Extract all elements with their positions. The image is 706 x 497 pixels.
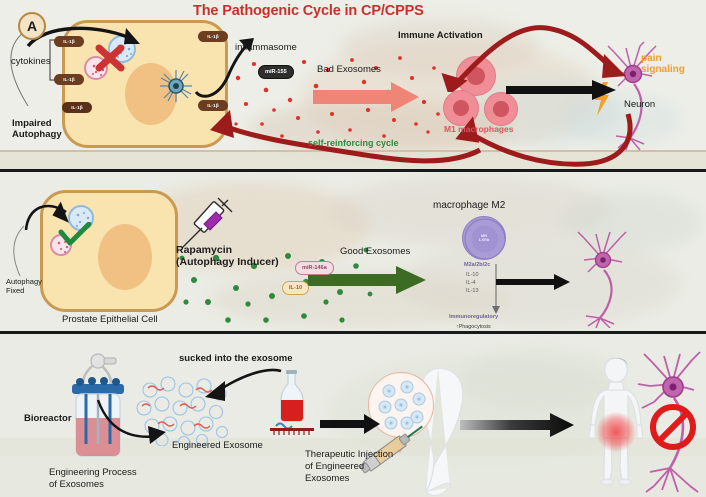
mirna-badge-mir155: miR-155: [258, 65, 294, 79]
label-immunoregulatory: Immunoregulatory: [449, 314, 498, 320]
label-therapeutic-injection-2: of Engineered: [305, 461, 364, 472]
label-macrophage-m2: macrophage M2: [433, 200, 505, 211]
label-therapeutic-injection-1: Therapeutic Injection: [305, 449, 393, 460]
pelvic-pain-indicator: [596, 412, 636, 452]
label-rapamycin-2: (Autophagy Inducer): [176, 256, 279, 268]
label-autophagy-fixed-1: Autophagy: [6, 277, 42, 286]
label-m2-cytokine-il4: IL-4: [466, 280, 475, 286]
m2-to-neuron-arrow: [496, 273, 572, 291]
label-impaired-autophagy-2: Autophagy: [12, 129, 62, 140]
treatment-outcome-arrow: [460, 412, 576, 438]
pain-blocked-no-entry-icon: [650, 404, 696, 450]
label-immune-activation: Immune Activation: [398, 30, 483, 41]
label-effect-phagocytosis: ↑Phagocytosis: [456, 324, 491, 330]
cytokine-badge-il10: IL-10: [282, 281, 309, 295]
label-m1-macrophages: M1 macrophages: [444, 124, 513, 134]
label-engineered-exosome: Engineered Exosome: [172, 440, 263, 451]
m2-macrophage: MR LXRa: [462, 216, 506, 260]
label-rapamycin-1: Rapamycin: [176, 244, 232, 256]
scientific-figure: The Pathogenic Cycle in CP/CPPS A: [0, 0, 706, 497]
panel-b-autophagy-induction: Pharmacological Autophagy Induction B: [0, 172, 706, 332]
label-impaired-autophagy-1: Impaired: [12, 118, 52, 129]
panel-a-badge: A: [18, 12, 46, 40]
label-m2-cytokine-il13: IL-13: [466, 288, 479, 294]
label-pain-signaling-1: pain: [641, 53, 662, 64]
panel-a-title: The Pathogenic Cycle in CP/CPPS: [193, 3, 424, 19]
cargo-loading-arrow: [181, 367, 285, 405]
bioreactor-to-exosome-arrow: [96, 398, 174, 446]
label-bioreactor: Bioreactor: [24, 413, 72, 424]
label-sucked-into-exosome: sucked into the exosome: [179, 353, 293, 364]
panel-c-exosome-therapy: Targeted Exosome-Based Therapy C Bioreac…: [0, 334, 706, 497]
label-m2-cytokine-il10: IL-10: [466, 272, 479, 278]
neuron-b: [568, 228, 650, 328]
to-injection-arrow: [320, 412, 382, 436]
label-engineering-process-2: of Exosomes: [49, 479, 104, 490]
panel-divider-a: [0, 169, 706, 172]
autophagy-fixed-arrow: [22, 196, 78, 236]
cytokine-badge-il1b: IL-1β: [54, 74, 84, 85]
media-bottle-icon: [276, 370, 306, 424]
label-neuron: Neuron: [624, 99, 655, 110]
label-engineering-process-1: Engineering Process: [49, 467, 137, 478]
label-good-exosomes: Good Exosomes: [340, 246, 410, 257]
label-pain-signaling-2: signaling: [641, 64, 685, 75]
label-self-reinforcing-cycle: self-reinforcing cycle: [308, 138, 399, 148]
label-prostate-epithelial-cell: Prostate Epithelial Cell: [62, 314, 158, 325]
cytokine-badge-il1b: IL-1β: [62, 102, 92, 113]
label-m2-subtypes: M2a/2b/2c: [464, 262, 490, 268]
label-inflammasome: inflammasome: [235, 42, 297, 53]
m2-marker-lxra: LXRa: [479, 238, 489, 242]
label-bad-exosomes: Bad Exosomes: [317, 64, 381, 75]
label-autophagy-fixed-2: Fixed: [6, 286, 24, 295]
mirna-badge-mir146a: miR-146a: [295, 261, 334, 275]
panel-divider-b: [0, 331, 706, 334]
label-therapeutic-injection-3: Exosomes: [305, 473, 349, 484]
panel-a-pathogenic-cycle: The Pathogenic Cycle in CP/CPPS A: [0, 0, 706, 170]
nucleus-b: [98, 224, 152, 290]
rna-construct-icon: [268, 420, 316, 436]
label-cytokines: cytokines: [11, 56, 51, 67]
